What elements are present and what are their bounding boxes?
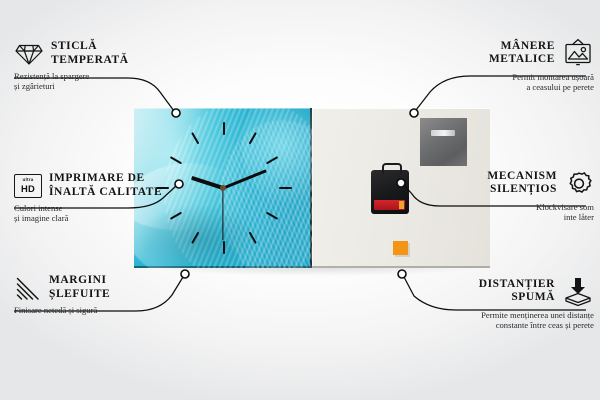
press-down-pad-icon (562, 276, 594, 306)
callout-title: IMPRIMARE DE ÎNALTĂ CALITATE (49, 172, 162, 199)
metal-hanger-bracket (420, 118, 467, 166)
hour-mark (266, 212, 278, 220)
callout-head: ultra HD IMPRIMARE DE ÎNALTĂ CALITATE (14, 172, 190, 199)
callout-head: MECANISM SILENȚIOS (414, 168, 594, 198)
foam-spacer (393, 241, 408, 255)
hour-mark (279, 187, 292, 189)
callout-hangers: MÂNERE METALICE Permit montarea ușoară a… (408, 38, 594, 93)
hour-mark (191, 232, 199, 244)
hanger-slot (431, 130, 455, 136)
ultra-hd-icon-main-label: HD (21, 184, 35, 193)
callout-head: DISTANȚIER SPUMĂ (404, 276, 594, 306)
callout-spacer: DISTANȚIER SPUMĂ Permite menținerea unei… (404, 276, 594, 331)
hour-mark (249, 232, 257, 244)
callout-title: DISTANȚIER SPUMĂ (479, 278, 555, 305)
battery (374, 200, 405, 210)
hour-mark (223, 122, 225, 135)
callout-mechanism: MECANISM SILENȚIOS Klockvisare som inte … (414, 168, 594, 223)
callout-title: MÂNERE METALICE (489, 40, 555, 67)
callout-desc: Culori intense și imagine clară (14, 203, 190, 224)
minute-hand (222, 169, 266, 189)
callout-head: MARGINI ȘLEFUITE (14, 274, 190, 301)
hour-hand (191, 176, 224, 190)
infographic-canvas: STICLĂ TEMPERATĂ Rezistență la spargere … (0, 0, 600, 400)
callout-title: MECANISM SILENȚIOS (487, 170, 557, 197)
callout-title: STICLĂ TEMPERATĂ (51, 40, 129, 67)
callout-desc: Finisare netedă și sigură (14, 305, 190, 315)
callout-title: MARGINI ȘLEFUITE (49, 274, 110, 301)
callout-desc: Permite menținerea unei distanțe constan… (404, 310, 594, 331)
callout-desc: Rezistență la spargere și zgârieturi (14, 71, 184, 92)
gear-icon (564, 168, 594, 198)
battery-terminal (399, 201, 404, 209)
callout-desc: Permit montarea ușoară a ceasului pe per… (408, 72, 594, 93)
callout-desc: Klockvisare som inte låter (414, 202, 594, 223)
mechanism-loop (382, 163, 402, 174)
hour-mark (170, 156, 182, 164)
ultra-hd-icon: ultra HD (14, 174, 42, 198)
hour-mark (223, 241, 225, 254)
beveled-edge-icon (14, 275, 42, 301)
callout-edges: MARGINI ȘLEFUITE Finisare netedă și sigu… (14, 274, 190, 315)
callout-head: STICLĂ TEMPERATĂ (14, 40, 184, 67)
callout-print: ultra HD IMPRIMARE DE ÎNALTĂ CALITATE Cu… (14, 172, 190, 224)
second-hand (222, 188, 223, 240)
picture-hanger-icon (562, 38, 594, 68)
callout-glass: STICLĂ TEMPERATĂ Rezistență la spargere … (14, 40, 184, 92)
clock-mechanism (371, 170, 409, 214)
callout-head: MÂNERE METALICE (408, 38, 594, 68)
hour-mark (266, 156, 278, 164)
diamond-icon (14, 41, 44, 67)
hour-mark (191, 132, 199, 144)
ultra-hd-icon-top-label: ultra (23, 178, 34, 183)
hand-center-cap (220, 185, 226, 191)
hour-mark (249, 132, 257, 144)
